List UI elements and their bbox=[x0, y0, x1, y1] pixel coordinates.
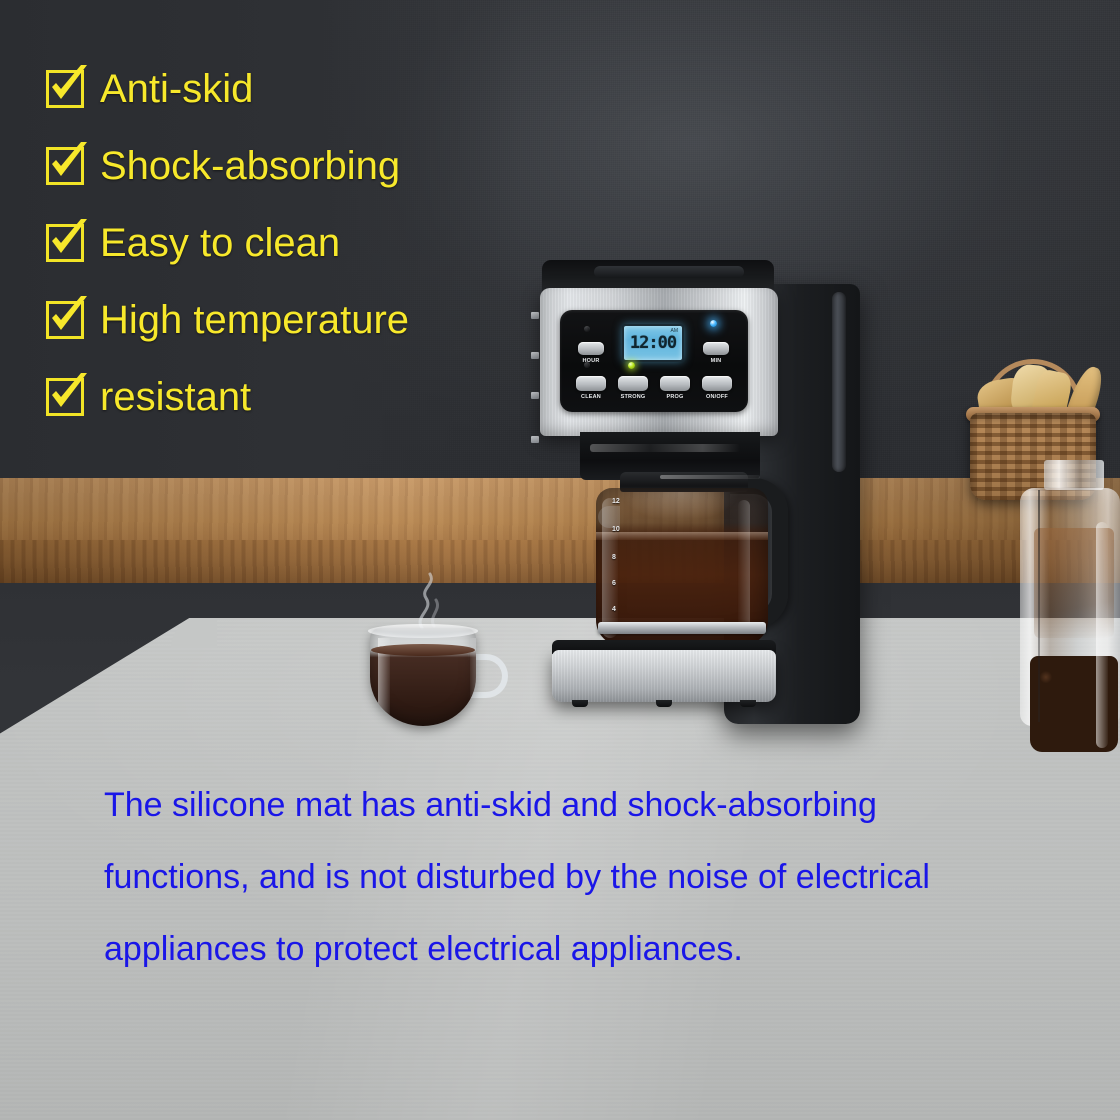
check-glyph-icon bbox=[45, 217, 91, 263]
carafe-spout bbox=[598, 506, 620, 528]
cup-rim bbox=[368, 624, 478, 638]
clean-button-label: CLEAN bbox=[576, 394, 606, 400]
feature-item: Easy to clean bbox=[46, 204, 516, 281]
prog-button[interactable] bbox=[660, 376, 690, 391]
checkmark-icon bbox=[46, 147, 84, 185]
min-button[interactable] bbox=[703, 342, 729, 355]
glass-coffee-cup bbox=[362, 620, 512, 732]
carafe-lid-highlight bbox=[660, 475, 760, 479]
coffee-bean-jar bbox=[1018, 460, 1120, 730]
carafe-mark-12: 12 bbox=[612, 498, 620, 505]
strong-button-label: STRONG bbox=[615, 394, 651, 400]
check-glyph-icon bbox=[45, 294, 91, 340]
feature-item: resistant bbox=[46, 358, 516, 435]
steam-wisp-icon bbox=[408, 570, 448, 630]
carafe-metal-band bbox=[598, 622, 766, 634]
carafe-mark-8: 8 bbox=[612, 554, 616, 561]
base-foot bbox=[740, 700, 756, 707]
check-glyph-icon bbox=[45, 140, 91, 186]
water-level-gauge bbox=[832, 292, 846, 472]
feature-label: resistant bbox=[100, 377, 251, 417]
feature-label: High temperature bbox=[100, 300, 409, 340]
caption-block: The silicone mat has anti-skid and shock… bbox=[104, 788, 1104, 1004]
cup-coffee-surface bbox=[371, 644, 475, 656]
onoff-button-label: ON/OFF bbox=[699, 394, 735, 400]
checkmark-icon bbox=[46, 378, 84, 416]
carafe-glare bbox=[620, 492, 740, 522]
hour-indicator-dot bbox=[584, 326, 590, 332]
carafe-mark-4: 4 bbox=[612, 606, 616, 613]
hour-button[interactable] bbox=[578, 342, 604, 355]
gauge-tick bbox=[531, 352, 539, 359]
feature-label: Easy to clean bbox=[100, 223, 340, 263]
lcd-display: AM 12:00 bbox=[622, 324, 684, 362]
product-feature-image: AM 12:00 HOUR MIN CLEAN STRONG bbox=[0, 0, 1120, 1120]
coffee-maker-base bbox=[552, 650, 776, 702]
power-led-blue-icon bbox=[710, 320, 717, 327]
base-foot bbox=[572, 700, 588, 707]
caption-line: The silicone mat has anti-skid and shock… bbox=[104, 788, 1104, 822]
prog-button-label: PROG bbox=[659, 394, 691, 400]
onoff-button[interactable] bbox=[702, 376, 732, 391]
jar-neck bbox=[1044, 460, 1104, 490]
feature-label: Shock-absorbing bbox=[100, 146, 400, 186]
hour-button-label: HOUR bbox=[578, 358, 604, 364]
jar-glass-body bbox=[1020, 488, 1120, 726]
coffee-maker: AM 12:00 HOUR MIN CLEAN STRONG bbox=[528, 250, 888, 750]
check-glyph-icon bbox=[45, 63, 91, 109]
carafe-mark-10: 10 bbox=[612, 526, 620, 533]
caption-line: appliances to protect electrical applian… bbox=[104, 932, 1104, 966]
checkmark-icon bbox=[46, 224, 84, 262]
feature-item: High temperature bbox=[46, 281, 516, 358]
gauge-tick bbox=[531, 392, 539, 399]
caption-line: functions, and is not disturbed by the n… bbox=[104, 860, 1104, 894]
coffee-maker-head: AM 12:00 HOUR MIN CLEAN STRONG bbox=[540, 288, 778, 436]
carafe-highlight-right bbox=[738, 500, 750, 630]
checkmark-icon bbox=[46, 301, 84, 339]
lcd-meridiem: AM bbox=[671, 328, 679, 334]
lcd-time: 12:00 bbox=[630, 335, 676, 352]
brew-head-highlight bbox=[590, 444, 740, 452]
carafe-mark-6: 6 bbox=[612, 580, 616, 587]
min-button-label: MIN bbox=[703, 358, 729, 364]
gauge-tick bbox=[531, 436, 539, 443]
check-glyph-icon bbox=[45, 371, 91, 417]
lid-grip bbox=[594, 266, 744, 278]
status-led-green-icon bbox=[628, 362, 635, 369]
feature-label: Anti-skid bbox=[100, 69, 253, 109]
checkmark-icon bbox=[46, 70, 84, 108]
feature-checklist: Anti-skid Shock-absorbing Easy to clean bbox=[46, 50, 516, 435]
base-foot bbox=[656, 700, 672, 707]
control-panel: AM 12:00 HOUR MIN CLEAN STRONG bbox=[560, 310, 748, 412]
glass-carafe[interactable]: 12 10 8 6 4 bbox=[590, 472, 776, 664]
strong-button[interactable] bbox=[618, 376, 648, 391]
jar-highlight bbox=[1096, 522, 1108, 748]
cup-body bbox=[370, 628, 476, 726]
jar-edge-line bbox=[1038, 490, 1040, 722]
feature-item: Anti-skid bbox=[46, 50, 516, 127]
gauge-tick bbox=[531, 312, 539, 319]
clean-button[interactable] bbox=[576, 376, 606, 391]
feature-item: Shock-absorbing bbox=[46, 127, 516, 204]
